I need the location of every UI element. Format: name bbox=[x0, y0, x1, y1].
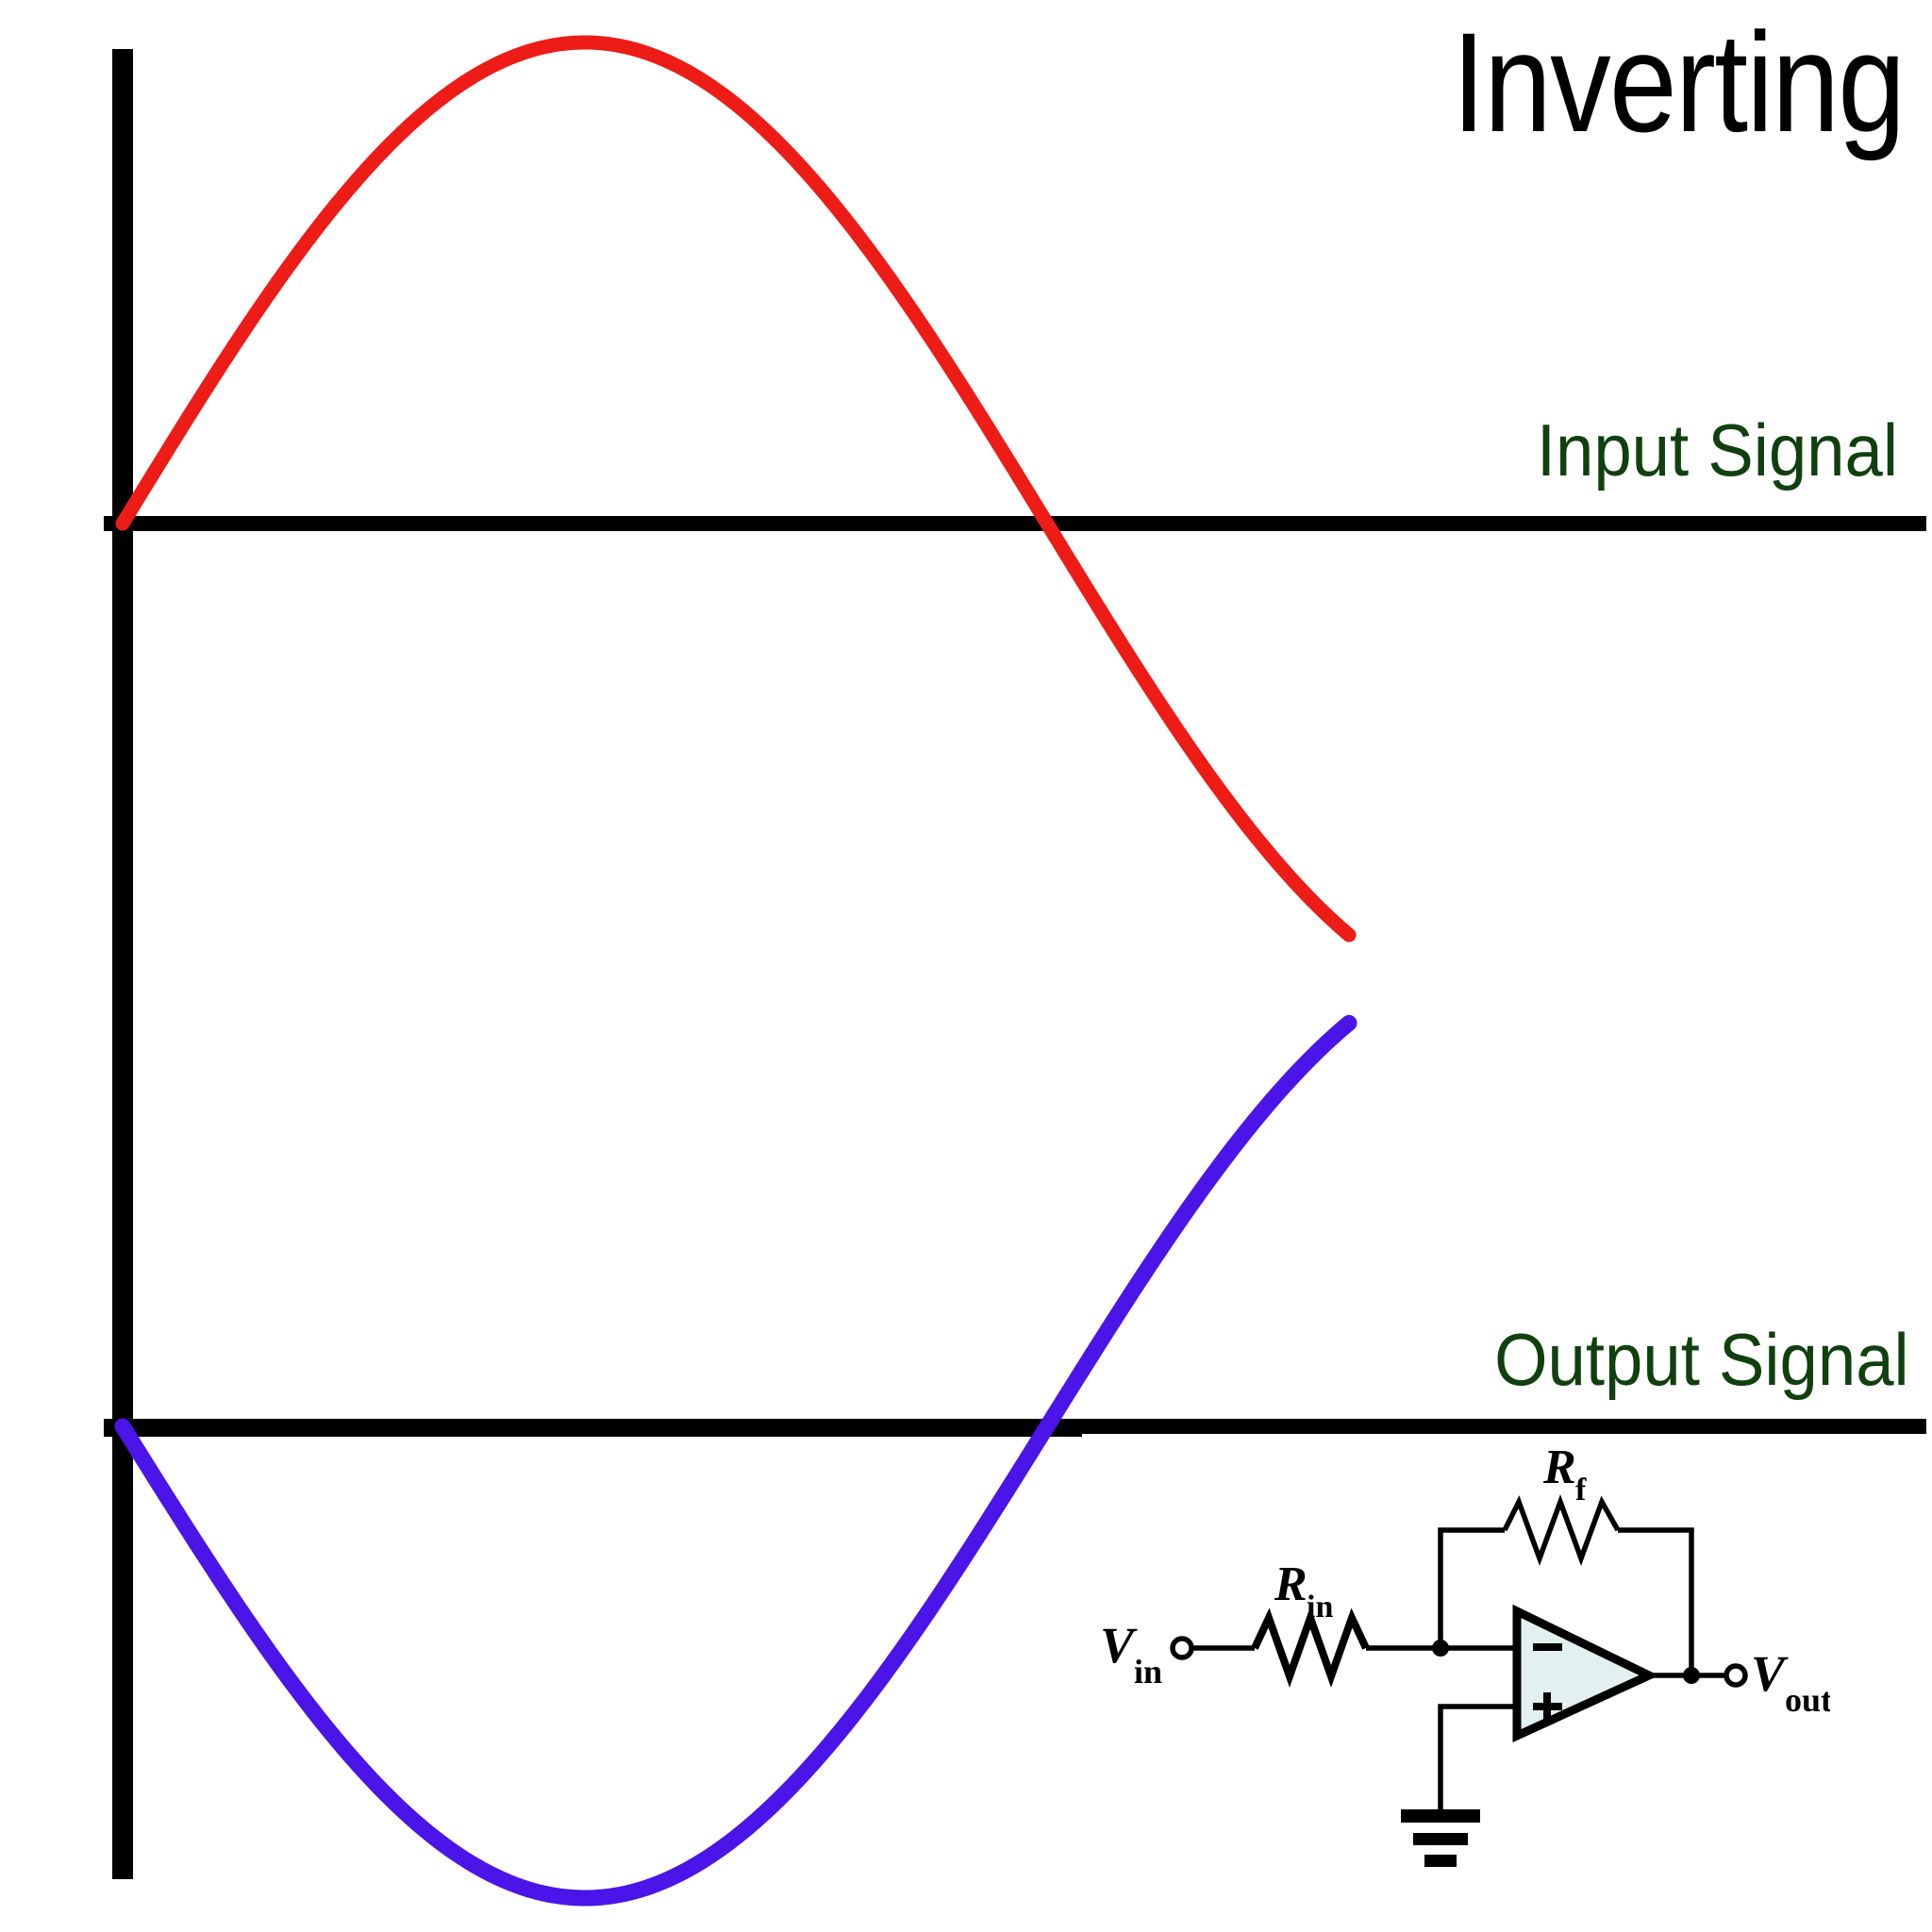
feedback-resistor-subscript: f bbox=[1575, 1473, 1587, 1507]
page-title: Inverting bbox=[1452, 11, 1904, 153]
noninverting-input-ground-wire bbox=[1441, 1707, 1517, 1809]
output-terminal-symbol: V bbox=[1751, 1645, 1789, 1702]
input-terminal-node bbox=[1173, 1639, 1191, 1657]
input-terminal-subscript: in bbox=[1134, 1653, 1162, 1690]
feedback-wire-right bbox=[1618, 1530, 1691, 1675]
figure-canvas: Inverting Input Signal Output Signal R f… bbox=[0, 0, 1932, 1932]
feedback-resistor-zigzag bbox=[1505, 1502, 1618, 1558]
input-signal-wave bbox=[123, 42, 1349, 935]
output-signal-label: Output Signal bbox=[1494, 1323, 1909, 1396]
output-junction bbox=[1683, 1667, 1700, 1684]
input-resistor-label: R in bbox=[1274, 1557, 1333, 1624]
feedback-resistor-symbol: R bbox=[1542, 1441, 1576, 1494]
output-terminal-node bbox=[1726, 1666, 1745, 1685]
input-terminal-symbol: V bbox=[1100, 1617, 1138, 1674]
inverting-input-junction bbox=[1432, 1640, 1449, 1657]
input-terminal-label: V in bbox=[1100, 1617, 1162, 1690]
feedback-wire-left bbox=[1441, 1530, 1505, 1648]
input-resistor-zigzag bbox=[1255, 1618, 1366, 1676]
input-resistor-symbol: R bbox=[1274, 1557, 1307, 1611]
opamp-triangle bbox=[1517, 1611, 1649, 1736]
output-terminal-subscript: out bbox=[1785, 1681, 1830, 1719]
output-terminal-label: V out bbox=[1751, 1645, 1830, 1719]
inverting-opamp-circuit: R f R in V in bbox=[1075, 1415, 1830, 1924]
ground-icon bbox=[1401, 1809, 1480, 1867]
feedback-resistor-label: R f bbox=[1542, 1441, 1587, 1507]
input-signal-label: Input Signal bbox=[1537, 413, 1898, 487]
